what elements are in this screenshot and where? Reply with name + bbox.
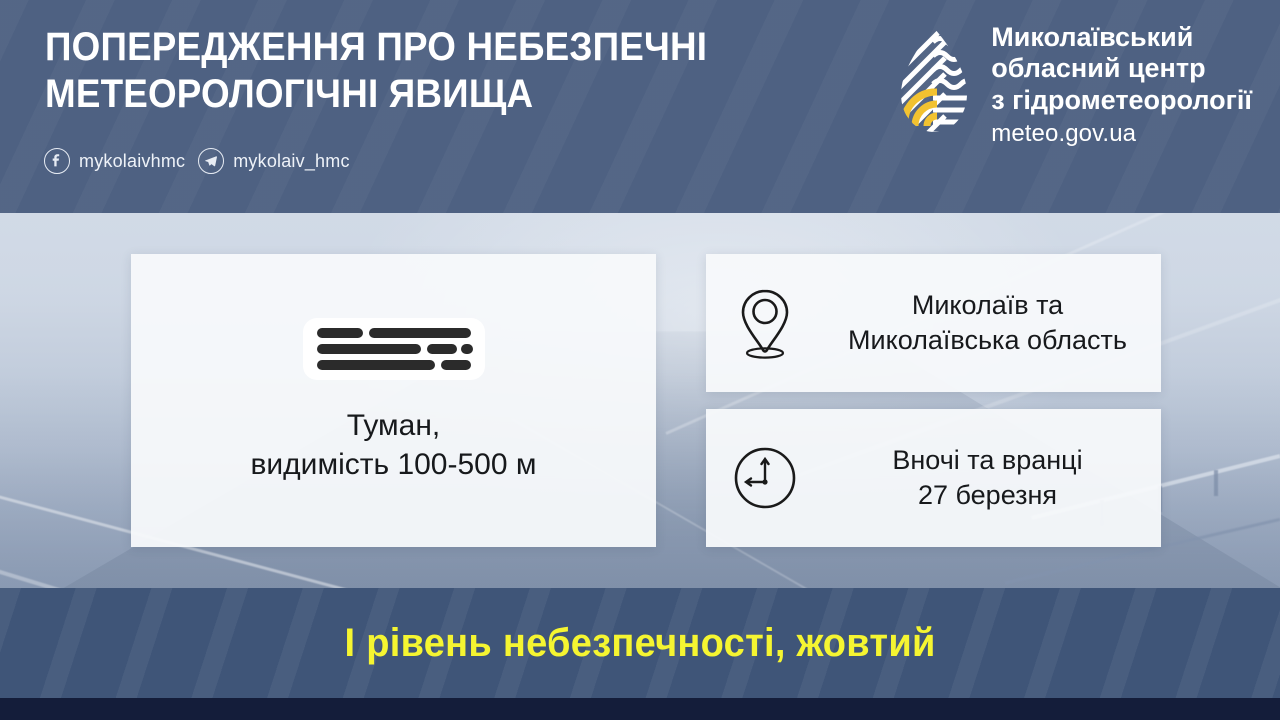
phenomenon-text: Туман, видимість 100-500 м bbox=[250, 406, 536, 484]
social-links: mykolaivhmc mykolaiv_hmc bbox=[44, 148, 350, 174]
fog-icon bbox=[303, 318, 485, 380]
facebook-icon bbox=[44, 148, 70, 174]
social-link-facebook[interactable]: mykolaivhmc bbox=[44, 148, 185, 174]
location-line-2: Миколаївська область bbox=[832, 323, 1143, 358]
footer-strip bbox=[0, 698, 1280, 720]
water-drop-logo-icon bbox=[893, 26, 975, 136]
telegram-icon bbox=[198, 148, 224, 174]
page-title: ПОПЕРЕДЖЕННЯ ПРО НЕБЕЗПЕЧНІ МЕТЕОРОЛОГІЧ… bbox=[45, 24, 753, 118]
phenomenon-card: Туман, видимість 100-500 м bbox=[131, 254, 656, 547]
location-text: Миколаїв та Миколаївська область bbox=[832, 288, 1143, 358]
warning-level-band: І рівень небезпечності, жовтий bbox=[0, 588, 1280, 698]
time-card: Вночі та вранці 27 березня bbox=[706, 409, 1161, 547]
page-title-line-1: ПОПЕРЕДЖЕННЯ ПРО НЕБЕЗПЕЧНІ bbox=[45, 24, 753, 71]
time-text: Вночі та вранці 27 березня bbox=[832, 443, 1143, 513]
facebook-handle: mykolaivhmc bbox=[79, 151, 185, 172]
org-line-3: з гідрометеорології bbox=[991, 85, 1252, 116]
phenomenon-line-2: видимість 100-500 м bbox=[250, 445, 536, 484]
org-line-2: обласний центр bbox=[991, 53, 1252, 84]
organization-logo-block: Миколаївський обласний центр з гідромете… bbox=[893, 22, 1252, 149]
org-line-1: Миколаївський bbox=[991, 22, 1252, 53]
page-title-line-2: МЕТЕОРОЛОГІЧНІ ЯВИЩА bbox=[45, 71, 753, 118]
org-website[interactable]: meteo.gov.ua bbox=[991, 118, 1252, 149]
social-link-telegram[interactable]: mykolaiv_hmc bbox=[198, 148, 349, 174]
clock-icon bbox=[732, 441, 798, 515]
warning-level-text: І рівень небезпечності, жовтий bbox=[344, 621, 935, 666]
organization-name: Миколаївський обласний центр з гідромете… bbox=[991, 22, 1252, 149]
header-band: ПОПЕРЕДЖЕННЯ ПРО НЕБЕЗПЕЧНІ МЕТЕОРОЛОГІЧ… bbox=[0, 0, 1280, 213]
location-card: Миколаїв та Миколаївська область bbox=[706, 254, 1161, 392]
location-line-1: Миколаїв та bbox=[832, 288, 1143, 323]
map-pin-icon bbox=[732, 286, 798, 360]
time-line-2: 27 березня bbox=[832, 478, 1143, 513]
weather-warning-poster: ПОПЕРЕДЖЕННЯ ПРО НЕБЕЗПЕЧНІ МЕТЕОРОЛОГІЧ… bbox=[0, 0, 1280, 720]
phenomenon-line-1: Туман, bbox=[250, 406, 536, 445]
time-line-1: Вночі та вранці bbox=[832, 443, 1143, 478]
telegram-handle: mykolaiv_hmc bbox=[233, 151, 349, 172]
